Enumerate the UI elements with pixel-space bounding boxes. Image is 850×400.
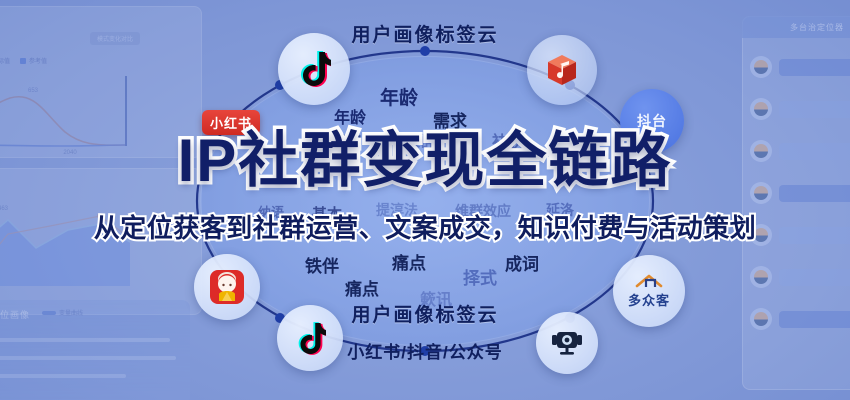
page-title: IP社群变现全链路 [0, 131, 850, 191]
bg-legend-item: 参考值 [20, 56, 47, 65]
house-icon [635, 273, 663, 289]
bg-chat-avatar [750, 56, 772, 78]
camera-icon [550, 328, 584, 358]
tag-cloud-item: 择式 [463, 264, 497, 289]
poster-canvas: 模式变化对比 预测值 实际值 参考值 653 2000 2040 2080 人口… [0, 0, 850, 400]
tag-cloud-item: 年龄 [380, 83, 418, 110]
tiktok-icon [297, 50, 331, 88]
tag-cloud-item: 痛点 [345, 275, 379, 300]
svg-text:653: 653 [28, 88, 39, 94]
music-cube-icon [542, 50, 582, 90]
bg-chat-avatar [750, 266, 772, 288]
bg-chat-panel: 多台治定位器 [742, 16, 850, 388]
page-subtitle: 从定位获客到社群运营、文案成交，知识付费与活动策划 [0, 215, 850, 241]
top-heading: 用户画像标签云 [0, 20, 850, 47]
tag-cloud-item: 铁伴 [305, 252, 339, 277]
tag-cloud-item: 成词 [505, 250, 539, 275]
tiktok-icon [295, 321, 326, 356]
tag-cloud-item: 痛点 [392, 249, 426, 274]
svg-text:463: 463 [0, 206, 9, 212]
node-music-cube[interactable] [527, 35, 597, 105]
bg-chat-bubble [779, 101, 850, 118]
bottom-heading: 用户画像标签云 [0, 300, 850, 327]
bg-chat-bubble [779, 59, 850, 76]
bg-chat-bubble [779, 269, 850, 286]
node-douyin-bottom[interactable] [277, 305, 343, 371]
bottom-caption: 小红书/抖音/公众号 [0, 338, 850, 363]
xhs-app-icon [208, 268, 246, 306]
bg-chat-avatar [750, 98, 772, 120]
node-xhs-app[interactable] [194, 254, 260, 320]
node-duozhongke[interactable]: 多众客 [613, 255, 685, 327]
node-label: 多众客 [628, 290, 670, 309]
tag-cloud-item: 年龄 [334, 104, 366, 128]
bg-legend-item: 实际值 [0, 56, 10, 65]
node-camera[interactable] [536, 312, 598, 374]
node-douyin-top[interactable] [278, 33, 350, 105]
